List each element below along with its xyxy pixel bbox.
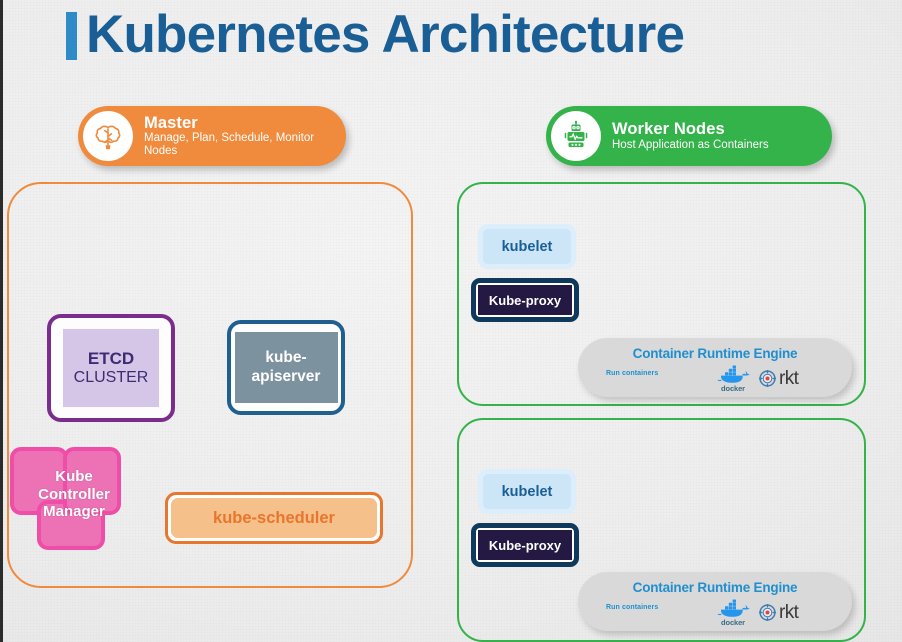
cre-subtitle-2: Run containers xyxy=(606,604,658,611)
title-accent-bar xyxy=(66,12,77,60)
kube-scheduler-inner: kube-scheduler xyxy=(171,498,377,538)
kubelet-label-2: kubelet xyxy=(502,484,553,500)
master-badge-title: Master xyxy=(144,114,334,132)
cre-title-1: Container Runtime Engine xyxy=(578,346,852,361)
etcd-label: ETCD xyxy=(88,349,134,369)
cre-title-2: Container Runtime Engine xyxy=(578,580,852,595)
title-text: Kubernetes Architecture xyxy=(86,8,684,61)
rkt-label-2: rkt xyxy=(779,603,798,622)
kube-proxy-box-2[interactable]: Kube-proxy xyxy=(471,523,579,567)
slide-canvas: Kubernetes Architecture Master Manage, P… xyxy=(0,0,902,642)
kubelet-box-2[interactable]: kubelet xyxy=(478,469,576,514)
worker-badge-text: Worker Nodes Host Application as Contain… xyxy=(612,120,777,151)
container-runtime-engine-2[interactable]: Container Runtime Engine Run containers xyxy=(578,572,852,631)
docker-label-1: docker xyxy=(721,384,745,393)
kube-scheduler-box[interactable]: kube-scheduler xyxy=(165,492,383,544)
kcm-label-line2: Controller xyxy=(10,486,138,504)
rkt-label-1: rkt xyxy=(779,369,798,388)
kcm-label-line1: Kube xyxy=(10,468,138,486)
kube-proxy-inner-2: Kube-proxy xyxy=(478,530,572,560)
container-runtime-engine-1[interactable]: Container Runtime Engine Run containers xyxy=(578,338,852,397)
kube-apiserver-box[interactable]: kube- apiserver xyxy=(227,320,345,415)
slide-left-edge xyxy=(0,0,3,642)
etcd-cluster-label: CLUSTER xyxy=(74,369,149,387)
docker-icon-1: docker xyxy=(716,364,750,393)
master-badge-text: Master Manage, Plan, Schedule, Monitor N… xyxy=(144,114,342,158)
etcd-cluster-inner: ETCD CLUSTER xyxy=(63,329,159,407)
kube-apiserver-label-line1: kube- xyxy=(265,349,306,368)
worker-badge-subtitle: Host Application as Containers xyxy=(612,139,769,152)
kube-scheduler-label: kube-scheduler xyxy=(213,509,335,528)
kube-proxy-inner-1: Kube-proxy xyxy=(478,285,572,315)
docker-label-2: docker xyxy=(721,618,745,627)
cre-logos-2: docker rkt xyxy=(716,598,798,627)
kube-apiserver-inner: kube- apiserver xyxy=(235,332,338,403)
kubelet-box-1[interactable]: kubelet xyxy=(478,224,576,269)
kube-proxy-box-1[interactable]: Kube-proxy xyxy=(471,278,579,322)
kube-controller-manager-label: Kube Controller Manager xyxy=(10,468,138,521)
page-title: Kubernetes Architecture xyxy=(66,8,684,61)
worker-badge-title: Worker Nodes xyxy=(612,120,769,138)
kube-apiserver-label-line2: apiserver xyxy=(252,368,321,387)
rkt-icon-2: rkt xyxy=(759,603,798,622)
master-badge-subtitle: Manage, Plan, Schedule, Monitor Nodes xyxy=(144,132,334,158)
cre-subtitle-1: Run containers xyxy=(606,370,658,377)
kube-proxy-label-2: Kube-proxy xyxy=(489,538,561,553)
kube-controller-manager-box[interactable]: Kube Controller Manager xyxy=(10,447,138,550)
rkt-icon-1: rkt xyxy=(759,369,798,388)
brain-icon xyxy=(83,111,133,161)
worker-header-badge[interactable]: Worker Nodes Host Application as Contain… xyxy=(546,106,832,166)
kubelet-label-1: kubelet xyxy=(502,239,553,255)
cre-logos-1: docker rkt xyxy=(716,364,798,393)
kcm-label-line3: Manager xyxy=(10,503,138,521)
etcd-cluster-box[interactable]: ETCD CLUSTER xyxy=(47,314,175,422)
kube-proxy-label-1: Kube-proxy xyxy=(489,293,561,308)
robot-icon xyxy=(551,111,601,161)
docker-icon-2: docker xyxy=(716,598,750,627)
master-header-badge[interactable]: Master Manage, Plan, Schedule, Monitor N… xyxy=(78,106,346,166)
